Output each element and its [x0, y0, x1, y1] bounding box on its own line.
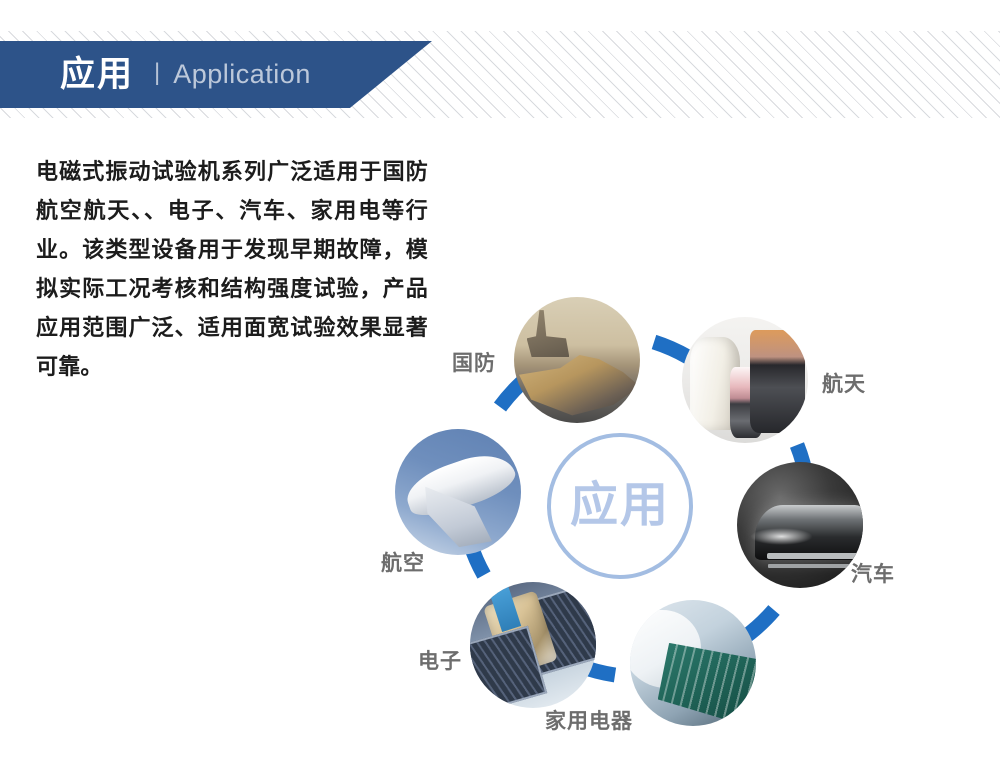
node-label-aviation: 航空	[381, 547, 425, 577]
kitchen-appliance-icon	[682, 317, 808, 443]
node-image-auto[interactable]	[737, 462, 863, 588]
satellite-icon	[470, 582, 596, 708]
node-image-appliance[interactable]	[630, 600, 756, 726]
node-label-aerospace: 航天	[822, 368, 866, 398]
aircraft-carrier-fighter-jet-icon	[514, 297, 640, 423]
car-front-icon	[737, 462, 863, 588]
airplane-icon	[395, 429, 521, 555]
node-image-aviation[interactable]	[395, 429, 521, 555]
page-title-en: Application	[173, 61, 311, 88]
car-grille-icon	[767, 553, 860, 559]
title-separator: |	[154, 61, 160, 85]
node-image-aerospace[interactable]	[682, 317, 808, 443]
diagram-center-circle: 应用	[547, 433, 693, 579]
header-band-top-divider	[0, 30, 1000, 31]
page-title-cn: 应用	[60, 57, 134, 92]
application-section-page: 应用 | Application 电磁式振动试验机系列广泛适用于国防航空航天、、…	[0, 0, 1000, 780]
node-label-defense: 国防	[452, 347, 496, 377]
node-image-electronic[interactable]	[470, 582, 596, 708]
node-label-appliance: 家用电器	[545, 705, 633, 735]
blender-jar-icon	[730, 367, 763, 438]
circuit-board-hand-icon	[630, 600, 756, 726]
node-image-defense[interactable]	[514, 297, 640, 423]
application-circle-diagram: 应用 国防 航天 汽车 家用电器	[370, 285, 970, 775]
diagram-center-label: 应用	[570, 482, 670, 530]
node-label-auto: 汽车	[851, 558, 895, 588]
node-label-electronic: 电子	[418, 645, 462, 675]
